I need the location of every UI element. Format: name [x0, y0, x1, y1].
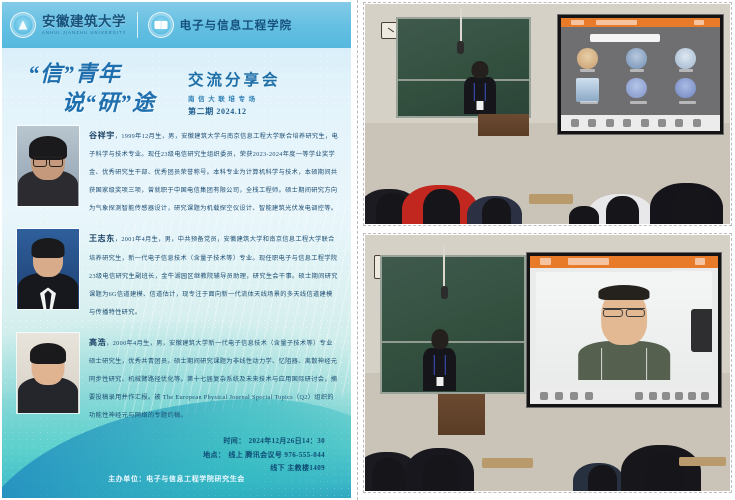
poster-organizer-footer: 主办单位：电子与信息工程学院研究生会 — [2, 474, 351, 484]
speaker-name: 谷祥宇 — [89, 131, 115, 140]
college-name-cn: 电子与信息工程学院 — [180, 17, 293, 33]
classroom-scene — [365, 235, 730, 491]
speaker-bio-text: ，1999年12月生，男，安徽建筑大学与南京信息工程大学联合培养研究生，电子科学… — [89, 133, 338, 212]
participant-video-tile — [576, 78, 600, 102]
title-line-2: 说“研”途 — [62, 85, 180, 117]
photo-column — [358, 0, 735, 500]
speaker-portrait-gao-hao — [16, 332, 80, 414]
speaker-item: 高浩，2000年4月生，男，安徽建筑大学新一代电子信息技术（含量子技术等）专业硕… — [16, 332, 339, 422]
meeting-toolbar[interactable] — [561, 115, 719, 131]
tencent-meeting-gallery-view — [561, 18, 719, 131]
speaker-item: 王志东，2001年4月生，男，中共预备党员，安徽建筑大学和南京信息工程大学联合培… — [16, 228, 339, 318]
title-subtitle: 交流分享会 — [188, 68, 281, 90]
participant-avatar — [626, 78, 647, 99]
title-line-1: “信”青年 — [28, 56, 180, 88]
speaker-name: 高浩 — [89, 338, 106, 347]
classroom-scene — [365, 4, 730, 224]
event-place-offline: 线下 主教楼1409 — [270, 464, 325, 472]
poster-title-sub: 交流分享会 南信大联培专场 第二期 2024.12 — [188, 56, 281, 117]
header-divider — [137, 12, 138, 38]
speaker-bio-text: ，2000年4月生，男，安徽建筑大学新一代电子信息技术（含量子技术等）专业硕士研… — [89, 340, 337, 419]
speaker-bio: 王志东，2001年4月生，男，中共预备党员，安徽建筑大学和南京信息工程大学联合培… — [89, 228, 339, 318]
event-info-block: 时间：2024年12月26日14：30 地点：线上 腾讯会议号 976-555-… — [2, 435, 335, 475]
meeting-search-field[interactable] — [590, 34, 660, 42]
event-time-row: 时间：2024年12月26日14：30 — [2, 435, 325, 448]
poster-column: 安徽建筑大学 ANHUI JIANZHU UNIVERSITY 电子与信息工程学… — [0, 0, 358, 500]
host-person — [464, 77, 497, 114]
participant-avatar — [675, 78, 696, 99]
speaker-bio: 谷祥宇，1999年12月生，男，安徽建筑大学与南京信息工程大学联合培养研究生，电… — [89, 125, 339, 215]
speaker-portrait-wang-zhidong — [16, 228, 80, 310]
participant-avatar — [675, 48, 696, 69]
university-name-en: ANHUI JIANZHU UNIVERSITY — [42, 31, 127, 35]
audience-seating — [365, 409, 730, 491]
event-poster: 安徽建筑大学 ANHUI JIANZHU UNIVERSITY 电子与信息工程学… — [2, 2, 351, 498]
audience-seating — [365, 132, 730, 224]
glasses-icon — [603, 308, 645, 316]
speaker-portrait-gu-xiangyu — [16, 125, 80, 207]
speaker-bio: 高浩，2000年4月生，男，安徽建筑大学新一代电子信息技术（含量子技术等）专业硕… — [89, 332, 339, 422]
event-time-value: 2024年12月26日14：30 — [249, 437, 325, 445]
speaker-name: 王志东 — [89, 234, 115, 243]
meeting-title-bar — [561, 18, 719, 27]
speaker-list: 谷祥宇，1999年12月生，男，安徽建筑大学与南京信息工程大学联合培养研究生，电… — [2, 119, 351, 422]
photo-lecture-hall-online-meeting-grid — [364, 3, 731, 225]
ceiling-microphone-icon — [443, 245, 445, 289]
glasses-icon — [33, 156, 63, 165]
photo-lecture-hall-remote-speaker — [364, 234, 731, 492]
university-name-cn: 安徽建筑大学 — [42, 15, 127, 29]
poster-header-band: 安徽建筑大学 ANHUI JIANZHU UNIVERSITY 电子与信息工程学… — [2, 2, 351, 48]
event-place-label: 地点： — [203, 451, 225, 459]
tencent-meeting-speaker-view — [530, 256, 717, 404]
participant-avatar — [626, 48, 647, 69]
participant-avatar — [577, 48, 598, 69]
event-time-label: 时间： — [223, 437, 245, 445]
anhui-jianzhu-university-crest-icon — [10, 12, 36, 38]
college-emblem-icon — [148, 12, 174, 38]
host-person — [423, 348, 456, 392]
title-session-track: 南信大联培专场 — [188, 93, 281, 103]
event-place-row: 地点：线上 腾讯会议号 976-555-044 — [2, 449, 325, 462]
university-name-block: 安徽建筑大学 ANHUI JIANZHU UNIVERSITY — [42, 15, 127, 35]
remote-speaker-video — [536, 272, 712, 380]
document-page: 安徽建筑大学 ANHUI JIANZHU UNIVERSITY 电子与信息工程学… — [0, 0, 735, 500]
title-issue-date: 第二期 2024.12 — [188, 106, 281, 117]
speaker-bio-text: ，2001年4月生，男，中共预备党员，安徽建筑大学和南京信息工程大学联合培养研究… — [89, 236, 338, 315]
ceiling-microphone-icon — [460, 8, 462, 43]
poster-title-main: “信”青年 说“研”途 — [28, 56, 180, 117]
projection-screen — [558, 15, 722, 134]
poster-title-block: “信”青年 说“研”途 交流分享会 南信大联培专场 第二期 2024.12 — [2, 48, 351, 119]
meeting-title-bar — [530, 256, 717, 268]
event-place-online: 线上 腾讯会议号 976-555-044 — [228, 451, 325, 459]
speaker-item: 谷祥宇，1999年12月生，男，安徽建筑大学与南京信息工程大学联合培养研究生，电… — [16, 125, 339, 215]
projection-screen — [527, 253, 720, 407]
meeting-toolbar[interactable] — [530, 387, 717, 403]
